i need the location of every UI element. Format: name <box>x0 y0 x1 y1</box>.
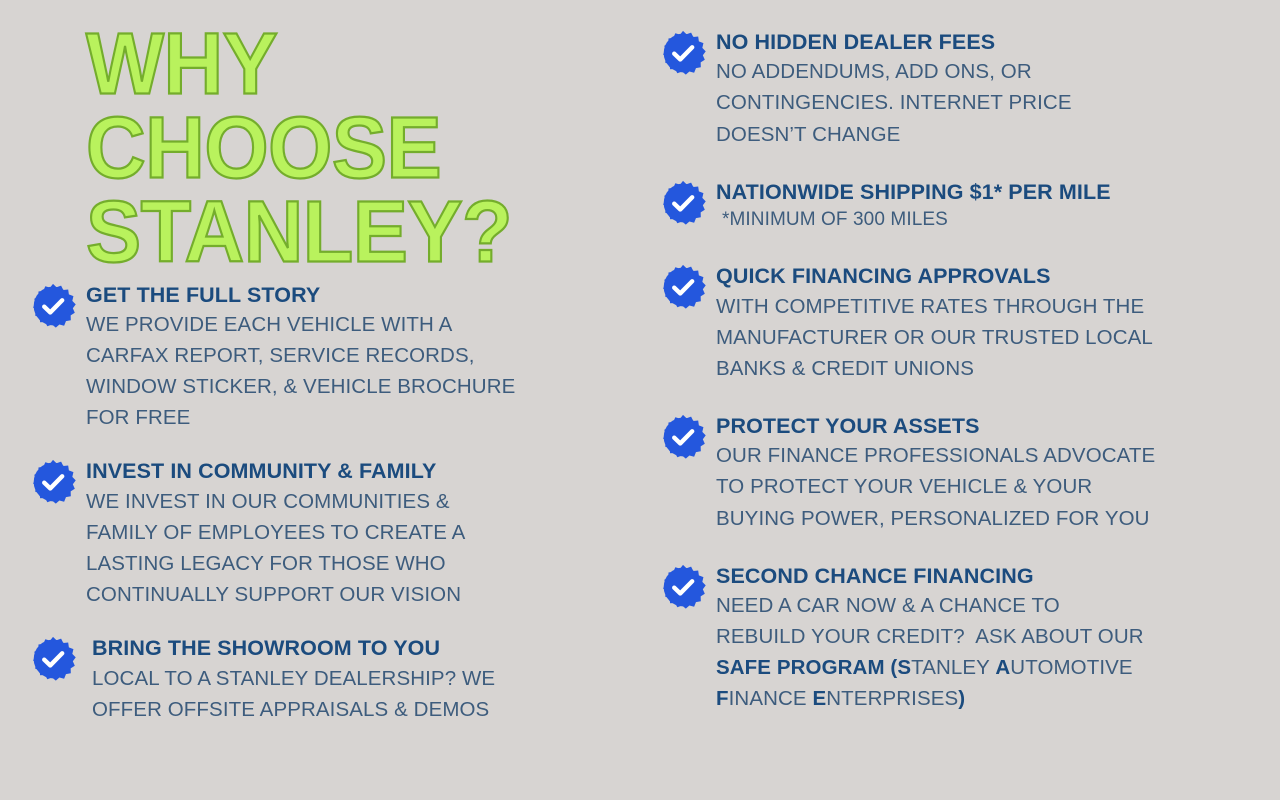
feature-title: NO HIDDEN DEALER FEES <box>716 29 1260 55</box>
feature-text: INVEST IN COMMUNITY & FAMILY WE INVEST I… <box>86 457 610 610</box>
feature-text: QUICK FINANCING APPROVALS WITH COMPETITI… <box>716 262 1260 384</box>
list-item: PROTECT YOUR ASSETS OUR FINANCE PROFESSI… <box>660 412 1260 534</box>
check-badge-icon <box>660 414 706 460</box>
feature-body: WE PROVIDE EACH VEHICLE WITH A CARFAX RE… <box>86 309 610 434</box>
feature-footnote: *MINIMUM OF 300 MILES <box>716 206 1260 235</box>
page-title: WHY CHOOSE STANLEY? <box>86 22 641 274</box>
feature-text: NO HIDDEN DEALER FEES NO ADDENDUMS, ADD … <box>716 28 1260 150</box>
feature-body: LOCAL TO A STANLEY DEALERSHIP? WE OFFER … <box>86 663 610 725</box>
check-badge-icon <box>660 30 706 76</box>
feature-body: NEED A CAR NOW & A CHANCE TOREBUILD YOUR… <box>716 590 1260 715</box>
feature-text: BRING THE SHOWROOM TO YOU LOCAL TO A STA… <box>86 634 610 725</box>
feature-title: BRING THE SHOWROOM TO YOU <box>86 635 610 661</box>
right-column: NO HIDDEN DEALER FEES NO ADDENDUMS, ADD … <box>640 0 1280 800</box>
list-item: NATIONWIDE SHIPPING $1* PER MILE *MINIMU… <box>660 178 1260 235</box>
list-item: GET THE FULL STORY WE PROVIDE EACH VEHIC… <box>30 281 610 434</box>
feature-title: NATIONWIDE SHIPPING $1* PER MILE <box>716 179 1260 205</box>
feature-text: SECOND CHANCE FINANCING NEED A CAR NOW &… <box>716 562 1260 715</box>
list-item: QUICK FINANCING APPROVALS WITH COMPETITI… <box>660 262 1260 384</box>
left-feature-list: GET THE FULL STORY WE PROVIDE EACH VEHIC… <box>30 281 610 725</box>
feature-title: INVEST IN COMMUNITY & FAMILY <box>86 458 610 484</box>
check-badge-icon <box>660 180 706 226</box>
list-item: SECOND CHANCE FINANCING NEED A CAR NOW &… <box>660 562 1260 715</box>
right-feature-list: NO HIDDEN DEALER FEES NO ADDENDUMS, ADD … <box>660 28 1260 715</box>
check-badge-icon <box>660 264 706 310</box>
check-badge-icon <box>30 636 76 682</box>
check-badge-icon <box>30 459 76 505</box>
feature-title: QUICK FINANCING APPROVALS <box>716 263 1260 289</box>
feature-text: NATIONWIDE SHIPPING $1* PER MILE *MINIMU… <box>716 178 1260 235</box>
list-item: INVEST IN COMMUNITY & FAMILY WE INVEST I… <box>30 457 610 610</box>
feature-body: WITH COMPETITIVE RATES THROUGH THE MANUF… <box>716 291 1260 384</box>
feature-text: GET THE FULL STORY WE PROVIDE EACH VEHIC… <box>86 281 610 434</box>
why-choose-stanley-poster: WHY CHOOSE STANLEY? GET THE FULL STORY W… <box>0 0 1280 800</box>
check-badge-icon <box>30 283 76 329</box>
feature-text: PROTECT YOUR ASSETS OUR FINANCE PROFESSI… <box>716 412 1260 534</box>
check-badge-icon <box>660 564 706 610</box>
list-item: BRING THE SHOWROOM TO YOU LOCAL TO A STA… <box>30 634 610 725</box>
feature-body: OUR FINANCE PROFESSIONALS ADVOCATE TO PR… <box>716 440 1260 533</box>
feature-body: WE INVEST IN OUR COMMUNITIES & FAMILY OF… <box>86 486 610 611</box>
feature-title: PROTECT YOUR ASSETS <box>716 413 1260 439</box>
feature-body: NO ADDENDUMS, ADD ONS, OR CONTINGENCIES.… <box>716 56 1260 149</box>
left-column: WHY CHOOSE STANLEY? GET THE FULL STORY W… <box>0 0 640 800</box>
feature-title: GET THE FULL STORY <box>86 282 610 308</box>
feature-title: SECOND CHANCE FINANCING <box>716 563 1260 589</box>
list-item: NO HIDDEN DEALER FEES NO ADDENDUMS, ADD … <box>660 28 1260 150</box>
